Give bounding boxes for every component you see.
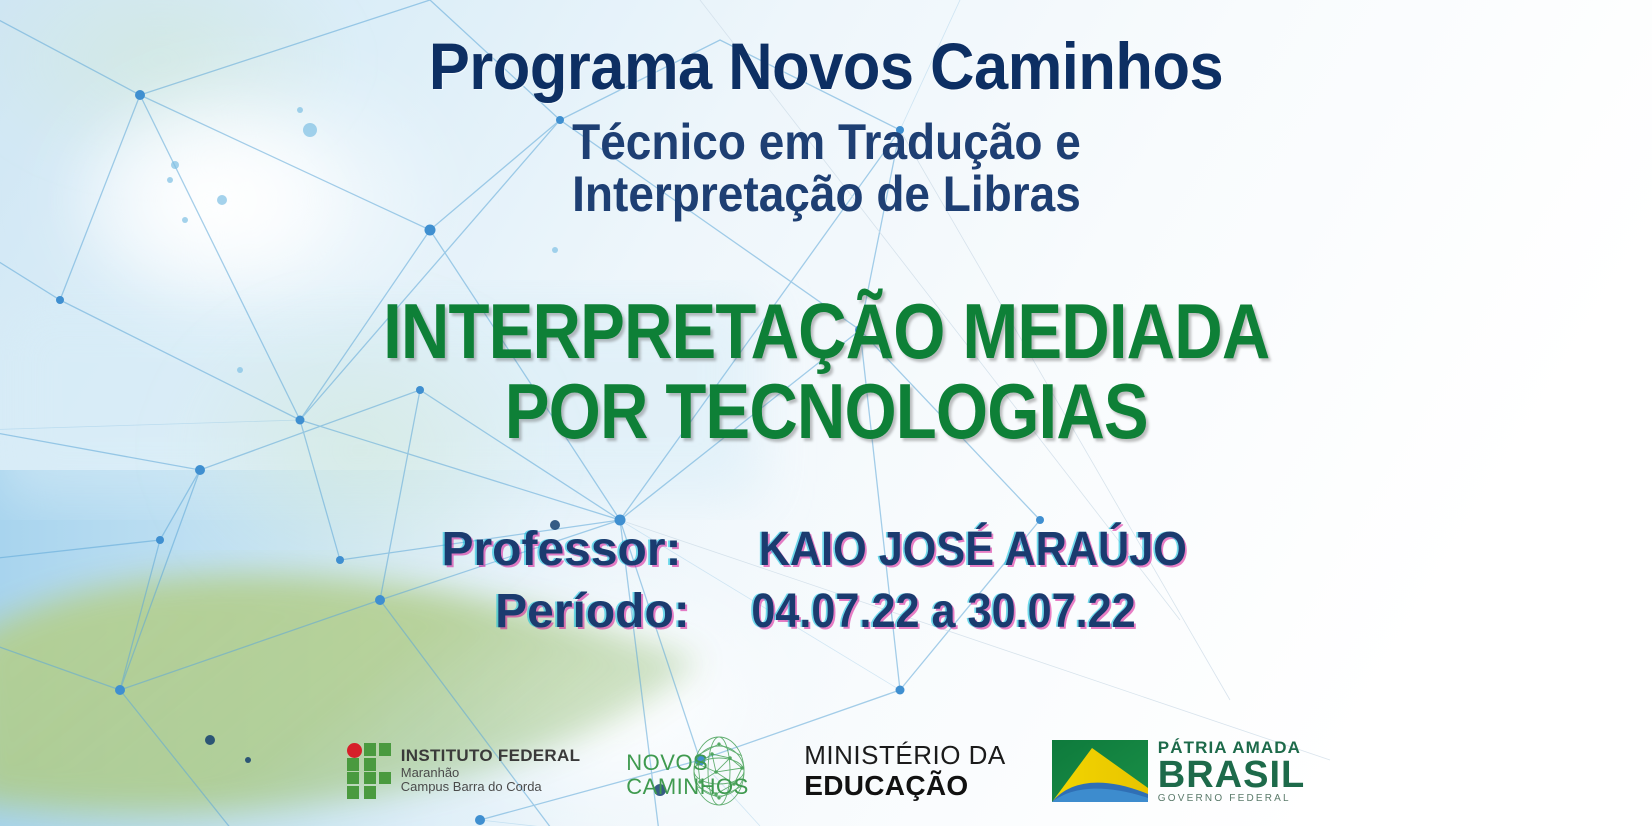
instituto-federal-line3: Campus Barra do Corda [401, 780, 581, 794]
brasil-line3: GOVERNO FEDERAL [1158, 794, 1305, 804]
professor-name: KAIO JOSÉ ARAÚJO [759, 519, 1187, 580]
instituto-federal-logo: INSTITUTO FEDERAL Maranhão Campus Barra … [347, 743, 581, 799]
governo-federal-brasil-logo: PÁTRIA AMADA BRASIL GOVERNO FEDERAL [1052, 739, 1305, 804]
module-headline-line2: POR TECNOLOGIAS [383, 372, 1269, 452]
brasil-line1: PÁTRIA AMADA [1158, 739, 1305, 756]
program-title: Programa Novos Caminhos [429, 28, 1223, 104]
course-name-line2: Interpretação de Libras [572, 168, 1081, 220]
instituto-federal-mark-icon [347, 743, 391, 799]
novos-caminhos-wordmark: NOVOS CAMINHOS [626, 751, 749, 799]
course-name-line1: Técnico em Tradução e [572, 116, 1081, 168]
brasil-wordmark: PÁTRIA AMADA BRASIL GOVERNO FEDERAL [1158, 739, 1305, 804]
credits-block: Professor: KAIO JOSÉ ARAÚJO Período: 04.… [441, 519, 1210, 642]
ministerio-line2: EDUCAÇÃO [804, 770, 1006, 801]
novos-caminhos-line2: CAMINHOS [626, 775, 749, 799]
period-value: 04.07.22 a 30.07.22 [751, 581, 1135, 642]
instituto-federal-line1: INSTITUTO FEDERAL [401, 747, 581, 766]
novos-caminhos-logo: NOVOS CAMINHOS [626, 734, 758, 808]
module-headline: INTERPRETAÇÃO MEDIADA POR TECNOLOGIAS [383, 292, 1269, 451]
brasil-line2: BRASIL [1158, 756, 1305, 794]
module-headline-line1: INTERPRETAÇÃO MEDIADA [383, 292, 1269, 372]
ministerio-line1: MINISTÉRIO DA [804, 741, 1006, 770]
course-announcement-banner: Programa Novos Caminhos Técnico em Tradu… [0, 0, 1652, 826]
institutional-logo-strip: INSTITUTO FEDERAL Maranhão Campus Barra … [0, 734, 1652, 808]
ministerio-educacao-logo: MINISTÉRIO DA EDUCAÇÃO [804, 741, 1006, 801]
period-line: Período: 04.07.22 a 30.07.22 [441, 581, 1210, 642]
brasil-flag-mark-icon [1052, 740, 1148, 802]
professor-label: Professor: [441, 523, 681, 576]
course-name: Técnico em Tradução e Interpretação de L… [572, 116, 1081, 220]
instituto-federal-wordmark: INSTITUTO FEDERAL Maranhão Campus Barra … [401, 747, 581, 794]
novos-caminhos-line1: NOVOS [626, 751, 749, 775]
period-label: Período: [495, 585, 690, 638]
professor-line: Professor: KAIO JOSÉ ARAÚJO [441, 519, 1210, 580]
instituto-federal-line2: Maranhão [401, 766, 581, 780]
